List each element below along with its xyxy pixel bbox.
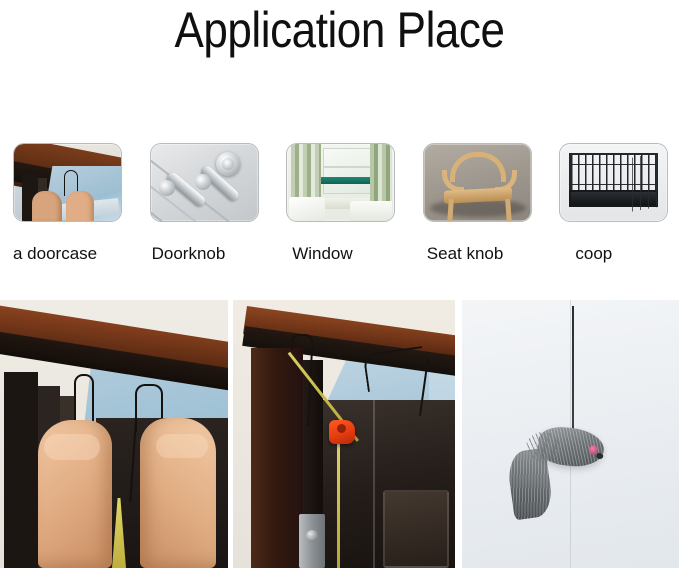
application-place-item-window[interactable]: Window [286, 143, 423, 264]
coop-thumbnail[interactable] [559, 143, 668, 222]
photo-installed-hook-pulley[interactable] [233, 300, 455, 568]
photo-hanging-mouse-toy[interactable] [462, 300, 679, 568]
application-place-thumbnail-strip: a doorcase Doorknob Window [0, 143, 679, 273]
thumbnail-label-doorknob: Doorknob [152, 244, 226, 264]
thumbnail-label-window: Window [292, 244, 352, 264]
seat-knob-thumbnail[interactable] [423, 143, 532, 222]
thumbnail-label-coop: coop [575, 244, 612, 264]
product-photo-row [0, 300, 679, 568]
application-place-item-doorcase[interactable]: a doorcase [13, 143, 150, 264]
photo-hands-installing-hook[interactable] [0, 300, 228, 568]
application-place-item-doorknob[interactable]: Doorknob [150, 143, 287, 264]
application-place-item-seat-knob[interactable]: Seat knob [423, 143, 560, 264]
doorcase-thumbnail[interactable] [13, 143, 122, 222]
thumbnail-label-doorcase: a doorcase [13, 244, 97, 264]
application-place-item-coop[interactable]: coop [559, 143, 679, 264]
application-place-page: Application Place a doorcase Doorknob [0, 0, 679, 568]
window-thumbnail[interactable] [286, 143, 395, 222]
doorknob-thumbnail[interactable] [150, 143, 259, 222]
thumbnail-label-seat-knob: Seat knob [427, 244, 504, 264]
page-title: Application Place [41, 2, 639, 58]
